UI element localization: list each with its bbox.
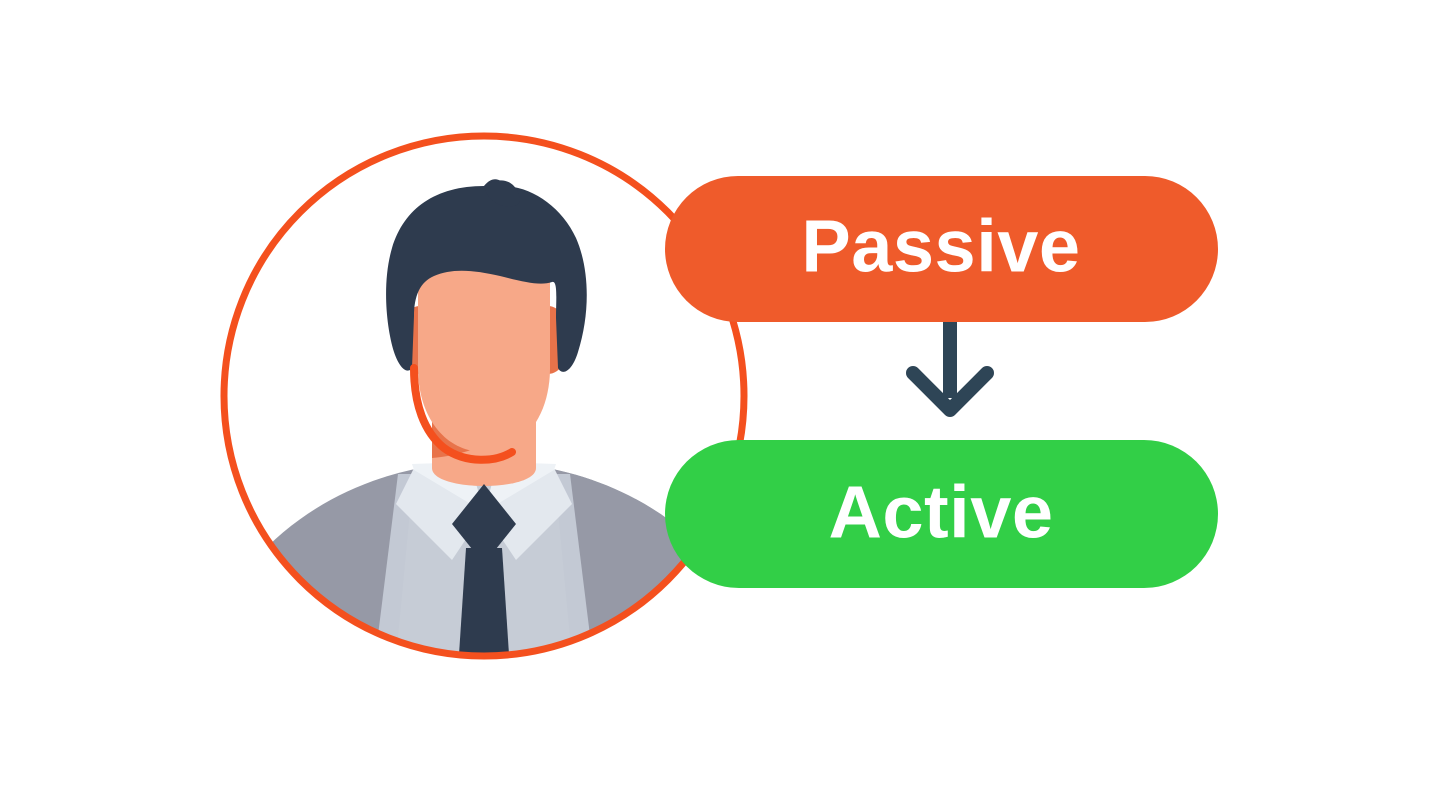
illustration-stage: Passive Active	[0, 0, 1440, 810]
background	[0, 0, 1440, 810]
screenshot-canvas: Passive Active	[0, 0, 1440, 810]
active-pill-label: Active	[828, 471, 1053, 554]
status-pill-passive[interactable]: Passive	[665, 176, 1218, 322]
status-pill-active[interactable]: Active	[665, 440, 1218, 588]
passive-pill-label: Passive	[801, 205, 1080, 288]
status-flow-illustration: Passive Active	[0, 0, 1440, 810]
